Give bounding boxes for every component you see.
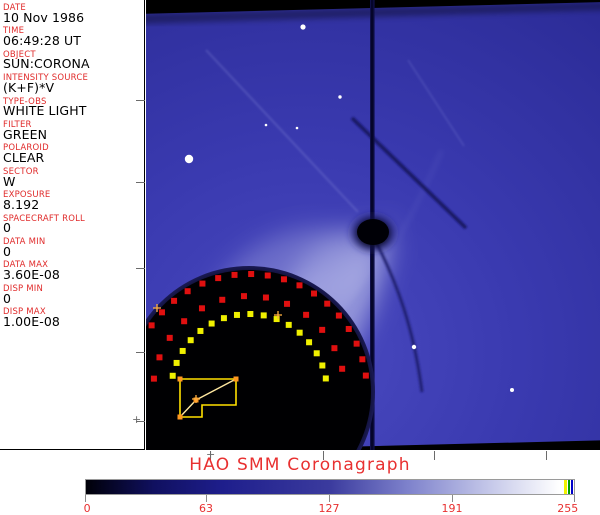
metadata-row: DATA MIN0 xyxy=(3,238,144,258)
marker-dot xyxy=(181,318,187,324)
metadata-value: 06:49:28 UT xyxy=(3,35,144,48)
colorbar-tick xyxy=(85,495,86,502)
metadata-value: 0 xyxy=(3,293,144,306)
marker-dot xyxy=(331,345,337,351)
metadata-value: WHITE LIGHT xyxy=(3,105,144,118)
marker-dot xyxy=(209,321,215,327)
colorbar-tick-label: 0 xyxy=(84,502,91,515)
star-point xyxy=(296,127,299,130)
metadata-row: DISP MAX1.00E-08 xyxy=(3,308,144,328)
colorbar-tick xyxy=(452,495,453,502)
metadata-row: EXPOSURE8.192 xyxy=(3,191,144,211)
metadata-row: SECTORW xyxy=(3,168,144,188)
star-point xyxy=(185,155,193,163)
axis-tick xyxy=(136,352,145,353)
marker-dot xyxy=(215,275,221,281)
metadata-value: 10 Nov 1986 xyxy=(3,12,144,25)
marker-dot xyxy=(151,376,157,382)
marker-dot xyxy=(297,330,303,336)
metadata-value: 0 xyxy=(3,246,144,259)
marker-dot xyxy=(156,354,162,360)
marker-dot xyxy=(171,298,177,304)
marker-dot xyxy=(167,335,173,341)
marker-dot xyxy=(284,301,290,307)
marker-dot xyxy=(274,316,280,322)
marker-dot xyxy=(188,337,194,343)
marker-dot xyxy=(248,271,254,277)
marker-dot xyxy=(339,366,345,372)
marker-dot xyxy=(323,375,329,381)
colorbar-tick-label: 63 xyxy=(199,502,213,515)
marker-dot xyxy=(324,301,330,307)
marker-dot xyxy=(263,295,269,301)
left-axis-ticks: + xyxy=(132,0,145,450)
occulting-blob xyxy=(347,211,399,255)
marker-dot xyxy=(346,326,352,332)
metadata-row: DATA MAX3.60E-08 xyxy=(3,261,144,281)
marker-dot xyxy=(199,305,205,311)
colorbar-tick-label: 255 xyxy=(557,502,578,515)
marker-dot xyxy=(359,356,365,362)
marker-dot xyxy=(314,350,320,356)
polygon-corner-marker[interactable] xyxy=(178,415,183,420)
colorbar-ramp[interactable] xyxy=(85,479,575,495)
metadata-value: 0 xyxy=(3,222,144,235)
axis-plus-marker: + xyxy=(132,415,141,424)
marker-dot xyxy=(306,339,312,345)
marker-dot xyxy=(354,341,360,347)
marker-dot xyxy=(221,315,227,321)
colorbar[interactable]: 063127191255 xyxy=(85,479,575,512)
coronagraph-image[interactable] xyxy=(146,0,600,450)
star-point xyxy=(338,95,341,98)
marker-dot xyxy=(261,312,267,318)
axis-tick xyxy=(136,182,145,183)
metadata-row: DISP MIN0 xyxy=(3,285,144,305)
marker-dot xyxy=(197,328,203,334)
marker-dot xyxy=(199,281,205,287)
star-point xyxy=(510,388,514,392)
metadata-panel: DATE10 Nov 1986TIME06:49:28 UTOBJECTSUN:… xyxy=(0,0,145,450)
star-point xyxy=(412,345,416,349)
star-point xyxy=(300,24,305,29)
axis-tick xyxy=(136,100,145,101)
metadata-row: OBJECTSUN:CORONA xyxy=(3,51,144,71)
marker-dot xyxy=(281,276,287,282)
marker-dot xyxy=(247,311,253,317)
yellow-marker-color xyxy=(564,480,567,494)
plot-title: HAO SMM Coronagraph xyxy=(0,455,600,477)
metadata-value: CLEAR xyxy=(3,152,144,165)
metadata-value: (K+F)*V xyxy=(3,82,144,95)
metadata-row: INTENSITY SOURCE(K+F)*V xyxy=(3,74,144,94)
marker-dot xyxy=(363,373,369,379)
metadata-row: POLAROIDCLEAR xyxy=(3,144,144,164)
marker-dot xyxy=(219,297,225,303)
marker-dot xyxy=(234,312,240,318)
marker-dot xyxy=(303,312,309,318)
colorbar-gradient xyxy=(86,480,574,494)
star-point xyxy=(265,124,268,127)
green-marker-color xyxy=(568,480,571,494)
marker-dot xyxy=(174,360,180,366)
metadata-row: SPACECRAFT ROLL0 xyxy=(3,215,144,235)
marker-dot xyxy=(241,293,247,299)
metadata-value: W xyxy=(3,176,144,189)
colorbar-tick-label: 191 xyxy=(442,502,463,515)
axis-tick xyxy=(136,268,145,269)
marker-dot xyxy=(170,373,176,379)
colorbar-tick xyxy=(574,495,575,502)
coronagraph-canvas xyxy=(146,0,600,450)
colorbar-tick-labels: 063127191255 xyxy=(85,502,575,514)
marker-dot xyxy=(159,309,165,315)
metadata-value: 8.192 xyxy=(3,199,144,212)
polygon-corner-marker[interactable] xyxy=(178,377,183,382)
marker-dot xyxy=(149,322,155,328)
colorbar-tick xyxy=(329,495,330,502)
marker-dot xyxy=(180,348,186,354)
metadata-value: SUN:CORONA xyxy=(3,58,144,71)
metadata-row: TYPE-OBSWHITE LIGHT xyxy=(3,98,144,118)
marker-dot xyxy=(311,291,317,297)
metadata-row: FILTERGREEN xyxy=(3,121,144,141)
colorbar-tick xyxy=(206,495,207,502)
metadata-row: DATE10 Nov 1986 xyxy=(3,4,144,24)
polygon-corner-marker[interactable] xyxy=(234,377,239,382)
blue-marker-color xyxy=(571,480,574,494)
colorbar-tick-label: 127 xyxy=(319,502,340,515)
metadata-value: 3.60E-08 xyxy=(3,269,144,282)
marker-dot xyxy=(336,313,342,319)
marker-dot xyxy=(296,282,302,288)
marker-dot xyxy=(319,362,325,368)
marker-dot xyxy=(319,327,325,333)
marker-dot xyxy=(185,288,191,294)
metadata-value: GREEN xyxy=(3,129,144,142)
marker-dot xyxy=(232,272,238,278)
metadata-value: 1.00E-08 xyxy=(3,316,144,329)
coronagraph-viewer: DATE10 Nov 1986TIME06:49:28 UTOBJECTSUN:… xyxy=(0,0,600,512)
marker-dot xyxy=(286,322,292,328)
marker-dot xyxy=(265,272,271,278)
metadata-row: TIME06:49:28 UT xyxy=(3,27,144,47)
